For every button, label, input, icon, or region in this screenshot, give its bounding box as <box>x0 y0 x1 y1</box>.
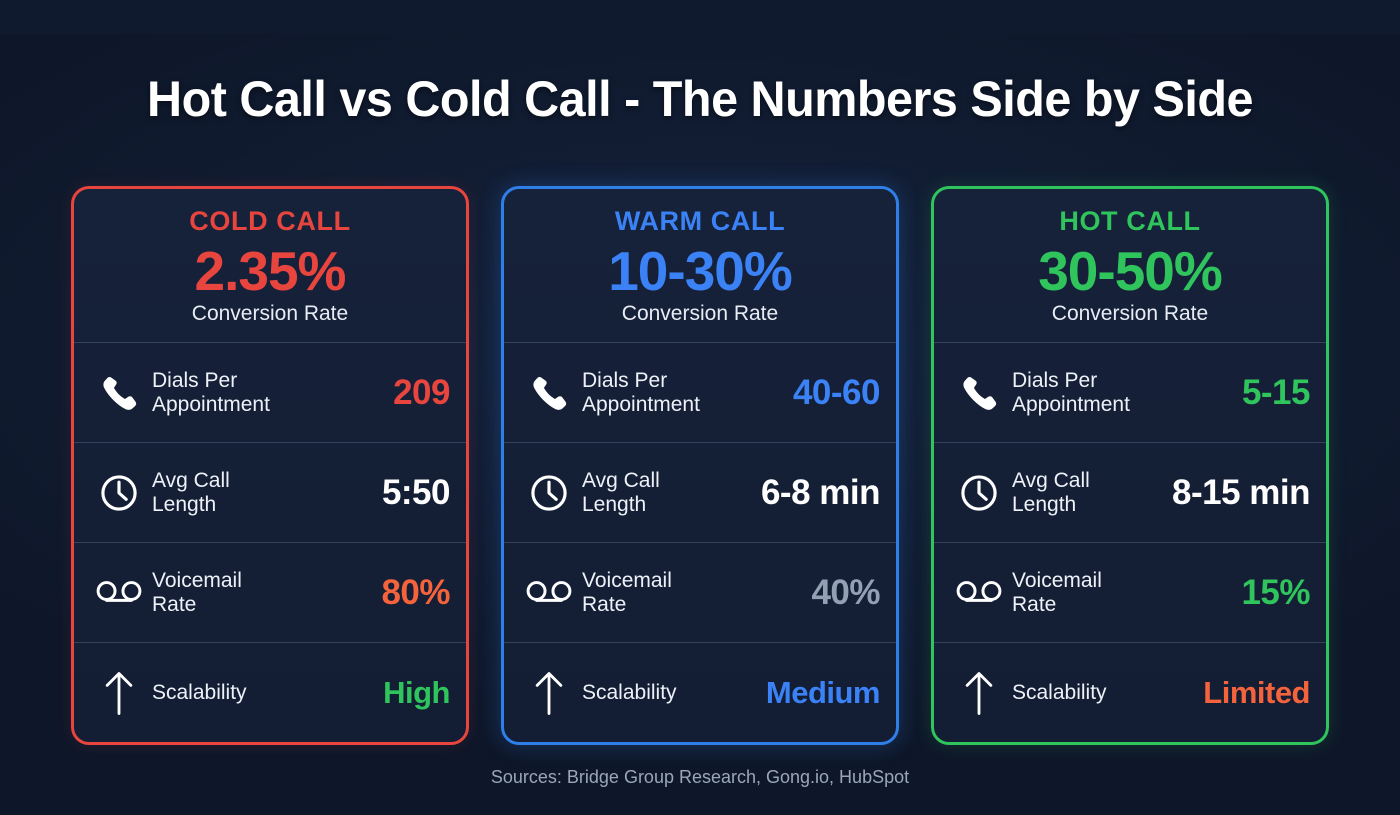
conversion-rate-label: Conversion Rate <box>944 302 1316 326</box>
metric-row: ScalabilityLimited <box>934 642 1326 742</box>
metric-label: Avg Call Length <box>1006 469 1172 517</box>
conversion-rate-value: 2.35% <box>84 243 456 301</box>
metric-label: Avg Call Length <box>146 469 382 517</box>
metric-rows: Dials Per Appointment209Avg Call Length5… <box>74 342 466 742</box>
metric-label: Scalability <box>146 681 383 705</box>
metric-row: Dials Per Appointment5-15 <box>934 342 1326 442</box>
phone-icon <box>952 372 1006 414</box>
page-title: Hot Call vs Cold Call - The Numbers Side… <box>21 34 1379 127</box>
metric-value: 6-8 min <box>761 473 880 513</box>
metric-row: Voicemail Rate40% <box>504 542 896 642</box>
conversion-rate-value: 30-50% <box>944 243 1316 301</box>
metric-value: 40-60 <box>793 373 880 413</box>
sources-footer: Sources: Bridge Group Research, Gong.io,… <box>0 767 1400 788</box>
metric-value: 5-15 <box>1242 373 1310 413</box>
metric-value: Limited <box>1203 675 1310 711</box>
card-header: COLD CALL2.35%Conversion Rate <box>74 189 466 342</box>
card-title: HOT CALL <box>944 207 1316 237</box>
voicemail-icon <box>92 576 146 610</box>
metric-label: Scalability <box>1006 681 1203 705</box>
metric-row: Avg Call Length5:50 <box>74 442 466 542</box>
arrow-up-icon <box>952 669 1006 717</box>
metric-row: Voicemail Rate80% <box>74 542 466 642</box>
card-cold: COLD CALL2.35%Conversion RateDials Per A… <box>71 186 469 745</box>
clock-icon <box>952 472 1006 514</box>
comparison-cards: COLD CALL2.35%Conversion RateDials Per A… <box>0 160 1400 745</box>
card-header: WARM CALL10-30%Conversion Rate <box>504 189 896 342</box>
voicemail-icon <box>952 576 1006 610</box>
metric-row: Dials Per Appointment40-60 <box>504 342 896 442</box>
voicemail-icon <box>522 576 576 610</box>
phone-icon <box>522 372 576 414</box>
conversion-rate-label: Conversion Rate <box>514 302 886 326</box>
arrow-up-icon <box>92 669 146 717</box>
metric-value: 5:50 <box>382 473 450 513</box>
metric-label: Voicemail Rate <box>146 569 381 617</box>
metric-row: Avg Call Length8-15 min <box>934 442 1326 542</box>
metric-value: 15% <box>1241 573 1310 613</box>
clock-icon <box>522 472 576 514</box>
metric-value: 80% <box>381 573 450 613</box>
metric-label: Voicemail Rate <box>576 569 811 617</box>
metric-rows: Dials Per Appointment5-15Avg Call Length… <box>934 342 1326 742</box>
conversion-rate-label: Conversion Rate <box>84 302 456 326</box>
metric-row: Dials Per Appointment209 <box>74 342 466 442</box>
metric-value: Medium <box>766 675 880 711</box>
metric-rows: Dials Per Appointment40-60Avg Call Lengt… <box>504 342 896 742</box>
metric-label: Scalability <box>576 681 766 705</box>
metric-label: Dials Per Appointment <box>146 369 393 417</box>
card-warm: WARM CALL10-30%Conversion RateDials Per … <box>501 186 899 745</box>
metric-row: Voicemail Rate15% <box>934 542 1326 642</box>
infographic-page: Hot Call vs Cold Call - The Numbers Side… <box>0 34 1400 815</box>
arrow-up-icon <box>522 669 576 717</box>
card-hot: HOT CALL30-50%Conversion RateDials Per A… <box>931 186 1329 745</box>
metric-label: Avg Call Length <box>576 469 761 517</box>
card-title: COLD CALL <box>84 207 456 237</box>
clock-icon <box>92 472 146 514</box>
metric-row: Avg Call Length6-8 min <box>504 442 896 542</box>
card-header: HOT CALL30-50%Conversion Rate <box>934 189 1326 342</box>
metric-value: 8-15 min <box>1172 473 1310 513</box>
metric-value: High <box>383 675 450 711</box>
phone-icon <box>92 372 146 414</box>
metric-value: 209 <box>393 373 450 413</box>
metric-row: ScalabilityMedium <box>504 642 896 742</box>
metric-label: Dials Per Appointment <box>576 369 793 417</box>
metric-row: ScalabilityHigh <box>74 642 466 742</box>
metric-label: Voicemail Rate <box>1006 569 1241 617</box>
conversion-rate-value: 10-30% <box>514 243 886 301</box>
metric-label: Dials Per Appointment <box>1006 369 1242 417</box>
metric-value: 40% <box>811 573 880 613</box>
card-title: WARM CALL <box>514 207 886 237</box>
